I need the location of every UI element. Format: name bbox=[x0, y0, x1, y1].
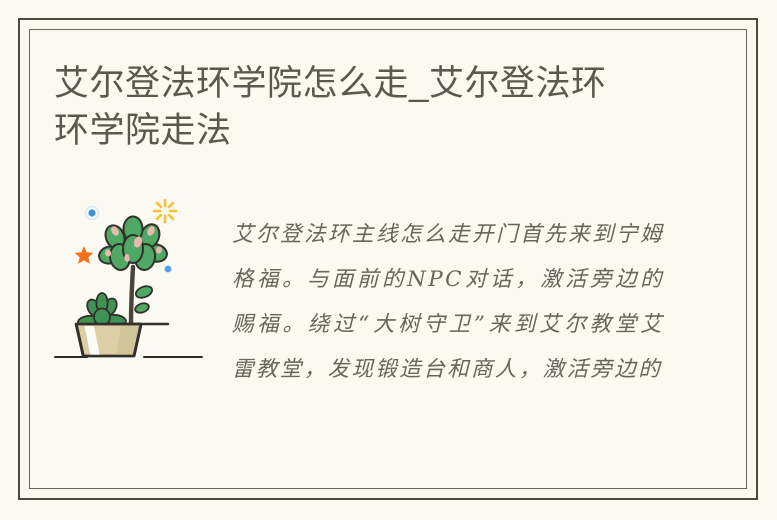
page-title: 艾尔登法环学院怎么走_艾尔登法环 环学院走法 bbox=[54, 60, 684, 154]
blue-dot-right-icon bbox=[165, 266, 172, 273]
orange-star-icon bbox=[75, 246, 93, 264]
page-root: 艾尔登法环学院怎么走_艾尔登法环 环学院走法 bbox=[0, 0, 777, 520]
potted-plant-illustration bbox=[52, 193, 224, 373]
article-body-text: 艾尔登法环主线怎么走开门首先来到宁姆格福。与面前的NPC对话，激活旁边的赐福。绕… bbox=[232, 212, 664, 392]
plant-flower-head bbox=[97, 217, 168, 272]
blue-dot-upper-left-icon bbox=[88, 209, 95, 216]
stem-side-leaves bbox=[134, 284, 154, 314]
plant-rosette bbox=[77, 293, 126, 327]
plant-stem bbox=[131, 267, 133, 324]
yellow-sunburst-icon bbox=[154, 200, 176, 222]
article-body-container: 艾尔登法环主线怎么走开门首先来到宁姆格福。与面前的NPC对话，激活旁边的赐福。绕… bbox=[232, 212, 664, 450]
